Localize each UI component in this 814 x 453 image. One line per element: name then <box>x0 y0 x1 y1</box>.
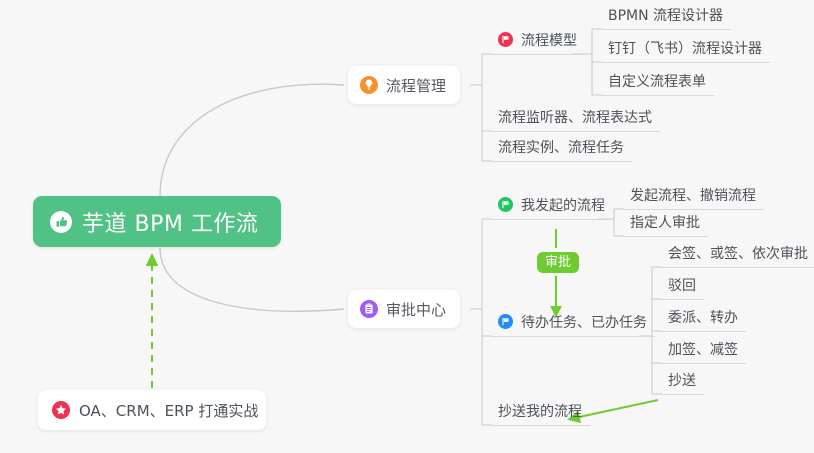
leaf-label-cc: 抄送 <box>668 370 696 390</box>
leaf-delegate-transfer[interactable]: 委派、转办 <box>662 302 746 332</box>
leaf-start-cancel-process[interactable]: 发起流程、撤销流程 <box>624 180 764 210</box>
callout-label-integration: OA、CRM、ERP 打通实战 <box>79 400 258 421</box>
mindmap-canvas: 芋道 BPM 工作流 流程管理 流程模型 流程监听器、流程表达式 流程实例、流 <box>0 0 814 453</box>
star-icon <box>52 401 70 419</box>
leaf-label-todo-done-tasks: 待办任务、已办任务 <box>521 312 647 332</box>
leaf-dingtalk-designer[interactable]: 钉钉（飞书）流程设计器 <box>602 33 770 63</box>
callout-node-integration[interactable]: OA、CRM、ERP 打通实战 <box>38 390 266 430</box>
leaf-label-dingtalk-designer: 钉钉（飞书）流程设计器 <box>608 38 762 58</box>
leaf-label-add-remove-sign: 加签、减签 <box>668 339 738 359</box>
leaf-label-custom-form: 自定义流程表单 <box>608 71 706 91</box>
flag-icon <box>498 32 513 47</box>
leaf-custom-form[interactable]: 自定义流程表单 <box>602 66 714 96</box>
leaf-label-bpmn-designer: BPMN 流程设计器 <box>608 5 723 25</box>
leaf-add-remove-sign[interactable]: 加签、减签 <box>662 334 746 364</box>
lightbulb-icon <box>360 76 378 94</box>
leaf-cc-my-processes[interactable]: 抄送我的流程 <box>492 396 590 426</box>
leaf-label-process-model: 流程模型 <box>521 30 577 50</box>
flag-icon <box>498 314 513 329</box>
leaf-my-processes[interactable]: 我发起的流程 <box>492 190 613 220</box>
leaf-label-countersign: 会签、或签、依次审批 <box>668 243 808 263</box>
leaf-label-process-listener: 流程监听器、流程表达式 <box>498 107 652 127</box>
leaf-label-start-cancel-process: 发起流程、撤销流程 <box>630 185 756 205</box>
root-label: 芋道 BPM 工作流 <box>82 206 258 238</box>
leaf-label-assignee-approval: 指定人审批 <box>630 212 700 232</box>
leaf-reject[interactable]: 驳回 <box>662 270 704 300</box>
leaf-label-process-instance: 流程实例、流程任务 <box>498 137 624 157</box>
approval-arrow-badge: 审批 <box>537 252 579 273</box>
link-root-to-approval-center <box>160 248 344 311</box>
leaf-cc[interactable]: 抄送 <box>662 365 704 395</box>
leaf-label-delegate-transfer: 委派、转办 <box>668 307 738 327</box>
leaf-process-model[interactable]: 流程模型 <box>492 25 585 55</box>
leaf-todo-done-tasks[interactable]: 待办任务、已办任务 <box>492 307 655 337</box>
branch-label-process-management: 流程管理 <box>386 75 446 96</box>
thumbs-up-icon <box>50 211 72 233</box>
branch-node-approval-center[interactable]: 审批中心 <box>348 290 460 328</box>
branch-node-process-management[interactable]: 流程管理 <box>348 66 460 104</box>
leaf-process-instance[interactable]: 流程实例、流程任务 <box>492 132 632 162</box>
leaf-assignee-approval[interactable]: 指定人审批 <box>624 207 708 237</box>
leaf-bpmn-designer[interactable]: BPMN 流程设计器 <box>602 0 731 30</box>
branch-label-approval-center: 审批中心 <box>386 299 446 320</box>
clipboard-icon <box>360 300 378 318</box>
leaf-label-reject: 驳回 <box>668 275 696 295</box>
flag-icon <box>498 197 513 212</box>
link-root-to-process-management <box>160 84 344 196</box>
root-node[interactable]: 芋道 BPM 工作流 <box>33 196 281 247</box>
leaf-process-listener[interactable]: 流程监听器、流程表达式 <box>492 102 660 132</box>
leaf-label-cc-my-processes: 抄送我的流程 <box>498 401 582 421</box>
leaf-label-my-processes: 我发起的流程 <box>521 195 605 215</box>
leaf-countersign[interactable]: 会签、或签、依次审批 <box>662 238 814 268</box>
